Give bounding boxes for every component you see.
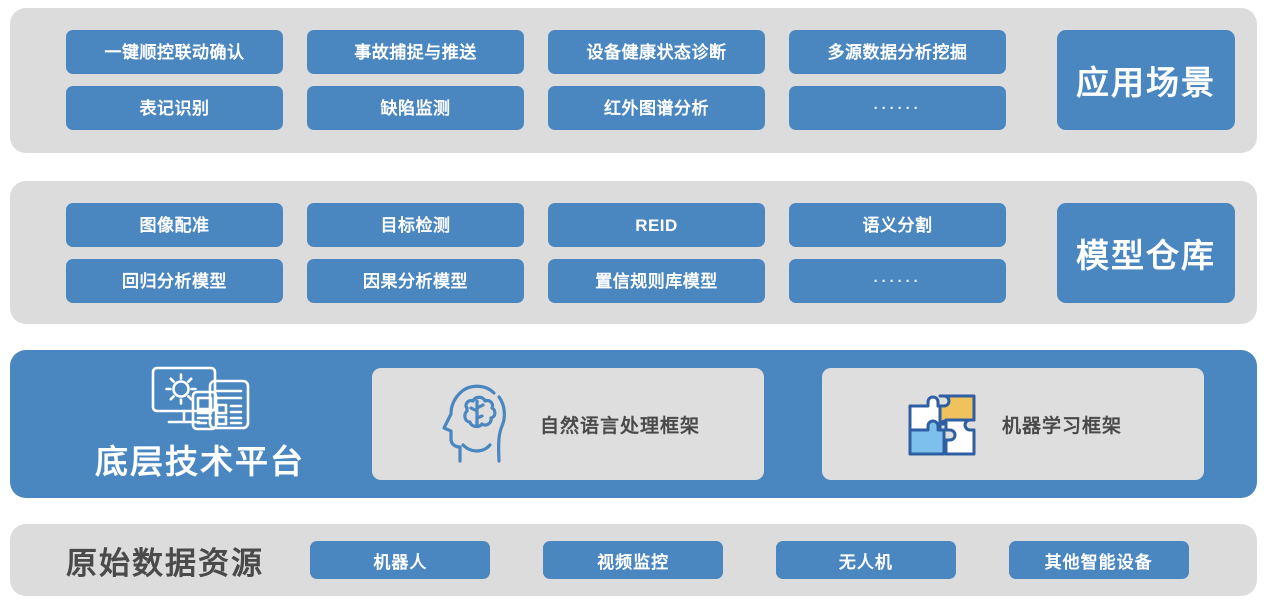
framework-label-ml: 机器学习框架: [1002, 411, 1122, 438]
data-source-pill[interactable]: 无人机: [776, 541, 956, 579]
scenario-pill-ellipsis[interactable]: ······: [789, 86, 1006, 130]
brain-head-icon: [436, 381, 514, 467]
model-pill-grid: 图像配准 目标检测 REID 语义分割 回归分析模型 因果分析模型 置信规则库模…: [66, 203, 1006, 303]
puzzle-pieces-icon: [904, 386, 980, 462]
scenario-pill[interactable]: 红外图谱分析: [548, 86, 765, 130]
section-title-application-scenarios: 应用场景: [1057, 30, 1235, 130]
section-raw-data-sources: 原始数据资源 机器人 视频监控 无人机 其他智能设备: [10, 524, 1257, 596]
model-pill[interactable]: 目标检测: [307, 203, 524, 247]
scenario-pill[interactable]: 设备健康状态诊断: [548, 30, 765, 74]
model-pill[interactable]: 回归分析模型: [66, 259, 283, 303]
framework-card-ml[interactable]: 机器学习框架: [822, 368, 1204, 480]
data-source-pill[interactable]: 机器人: [310, 541, 490, 579]
section-title-model-repository: 模型仓库: [1057, 203, 1235, 303]
model-pill[interactable]: 置信规则库模型: [548, 259, 765, 303]
scenario-pill[interactable]: 一键顺控联动确认: [66, 30, 283, 74]
data-source-pill-list: 机器人 视频监控 无人机 其他智能设备: [284, 541, 1215, 579]
devices-gear-icon: [141, 365, 259, 431]
section-application-scenarios: 一键顺控联动确认 事故捕捉与推送 设备健康状态诊断 多源数据分析挖掘 表记识别 …: [10, 8, 1257, 153]
scenario-pill[interactable]: 多源数据分析挖掘: [789, 30, 1006, 74]
model-pill[interactable]: REID: [548, 203, 765, 247]
framework-label-nlp: 自然语言处理框架: [540, 411, 700, 438]
scenario-pill-grid: 一键顺控联动确认 事故捕捉与推送 设备健康状态诊断 多源数据分析挖掘 表记识别 …: [66, 30, 1006, 130]
data-source-pill[interactable]: 其他智能设备: [1009, 541, 1189, 579]
scenario-pill[interactable]: 事故捕捉与推送: [307, 30, 524, 74]
section-technology-platform: 底层技术平台 自然语言处理框架: [10, 350, 1257, 498]
data-source-pill[interactable]: 视频监控: [543, 541, 723, 579]
architecture-diagram: 一键顺控联动确认 事故捕捉与推送 设备健康状态诊断 多源数据分析挖掘 表记识别 …: [0, 0, 1267, 612]
data-sources-inner: 原始数据资源 机器人 视频监控 无人机 其他智能设备: [10, 524, 1257, 596]
model-pill[interactable]: 图像配准: [66, 203, 283, 247]
platform-title: 底层技术平台: [95, 435, 305, 483]
section-model-repository: 图像配准 目标检测 REID 语义分割 回归分析模型 因果分析模型 置信规则库模…: [10, 181, 1257, 324]
scenario-pill[interactable]: 表记识别: [66, 86, 283, 130]
model-pill[interactable]: 因果分析模型: [307, 259, 524, 303]
scenario-pill[interactable]: 缺陷监测: [307, 86, 524, 130]
data-sources-title: 原始数据资源: [66, 538, 264, 583]
platform-brand: 底层技术平台: [50, 360, 350, 488]
framework-card-nlp[interactable]: 自然语言处理框架: [372, 368, 764, 480]
model-pill-ellipsis[interactable]: ······: [789, 259, 1006, 303]
model-pill[interactable]: 语义分割: [789, 203, 1006, 247]
